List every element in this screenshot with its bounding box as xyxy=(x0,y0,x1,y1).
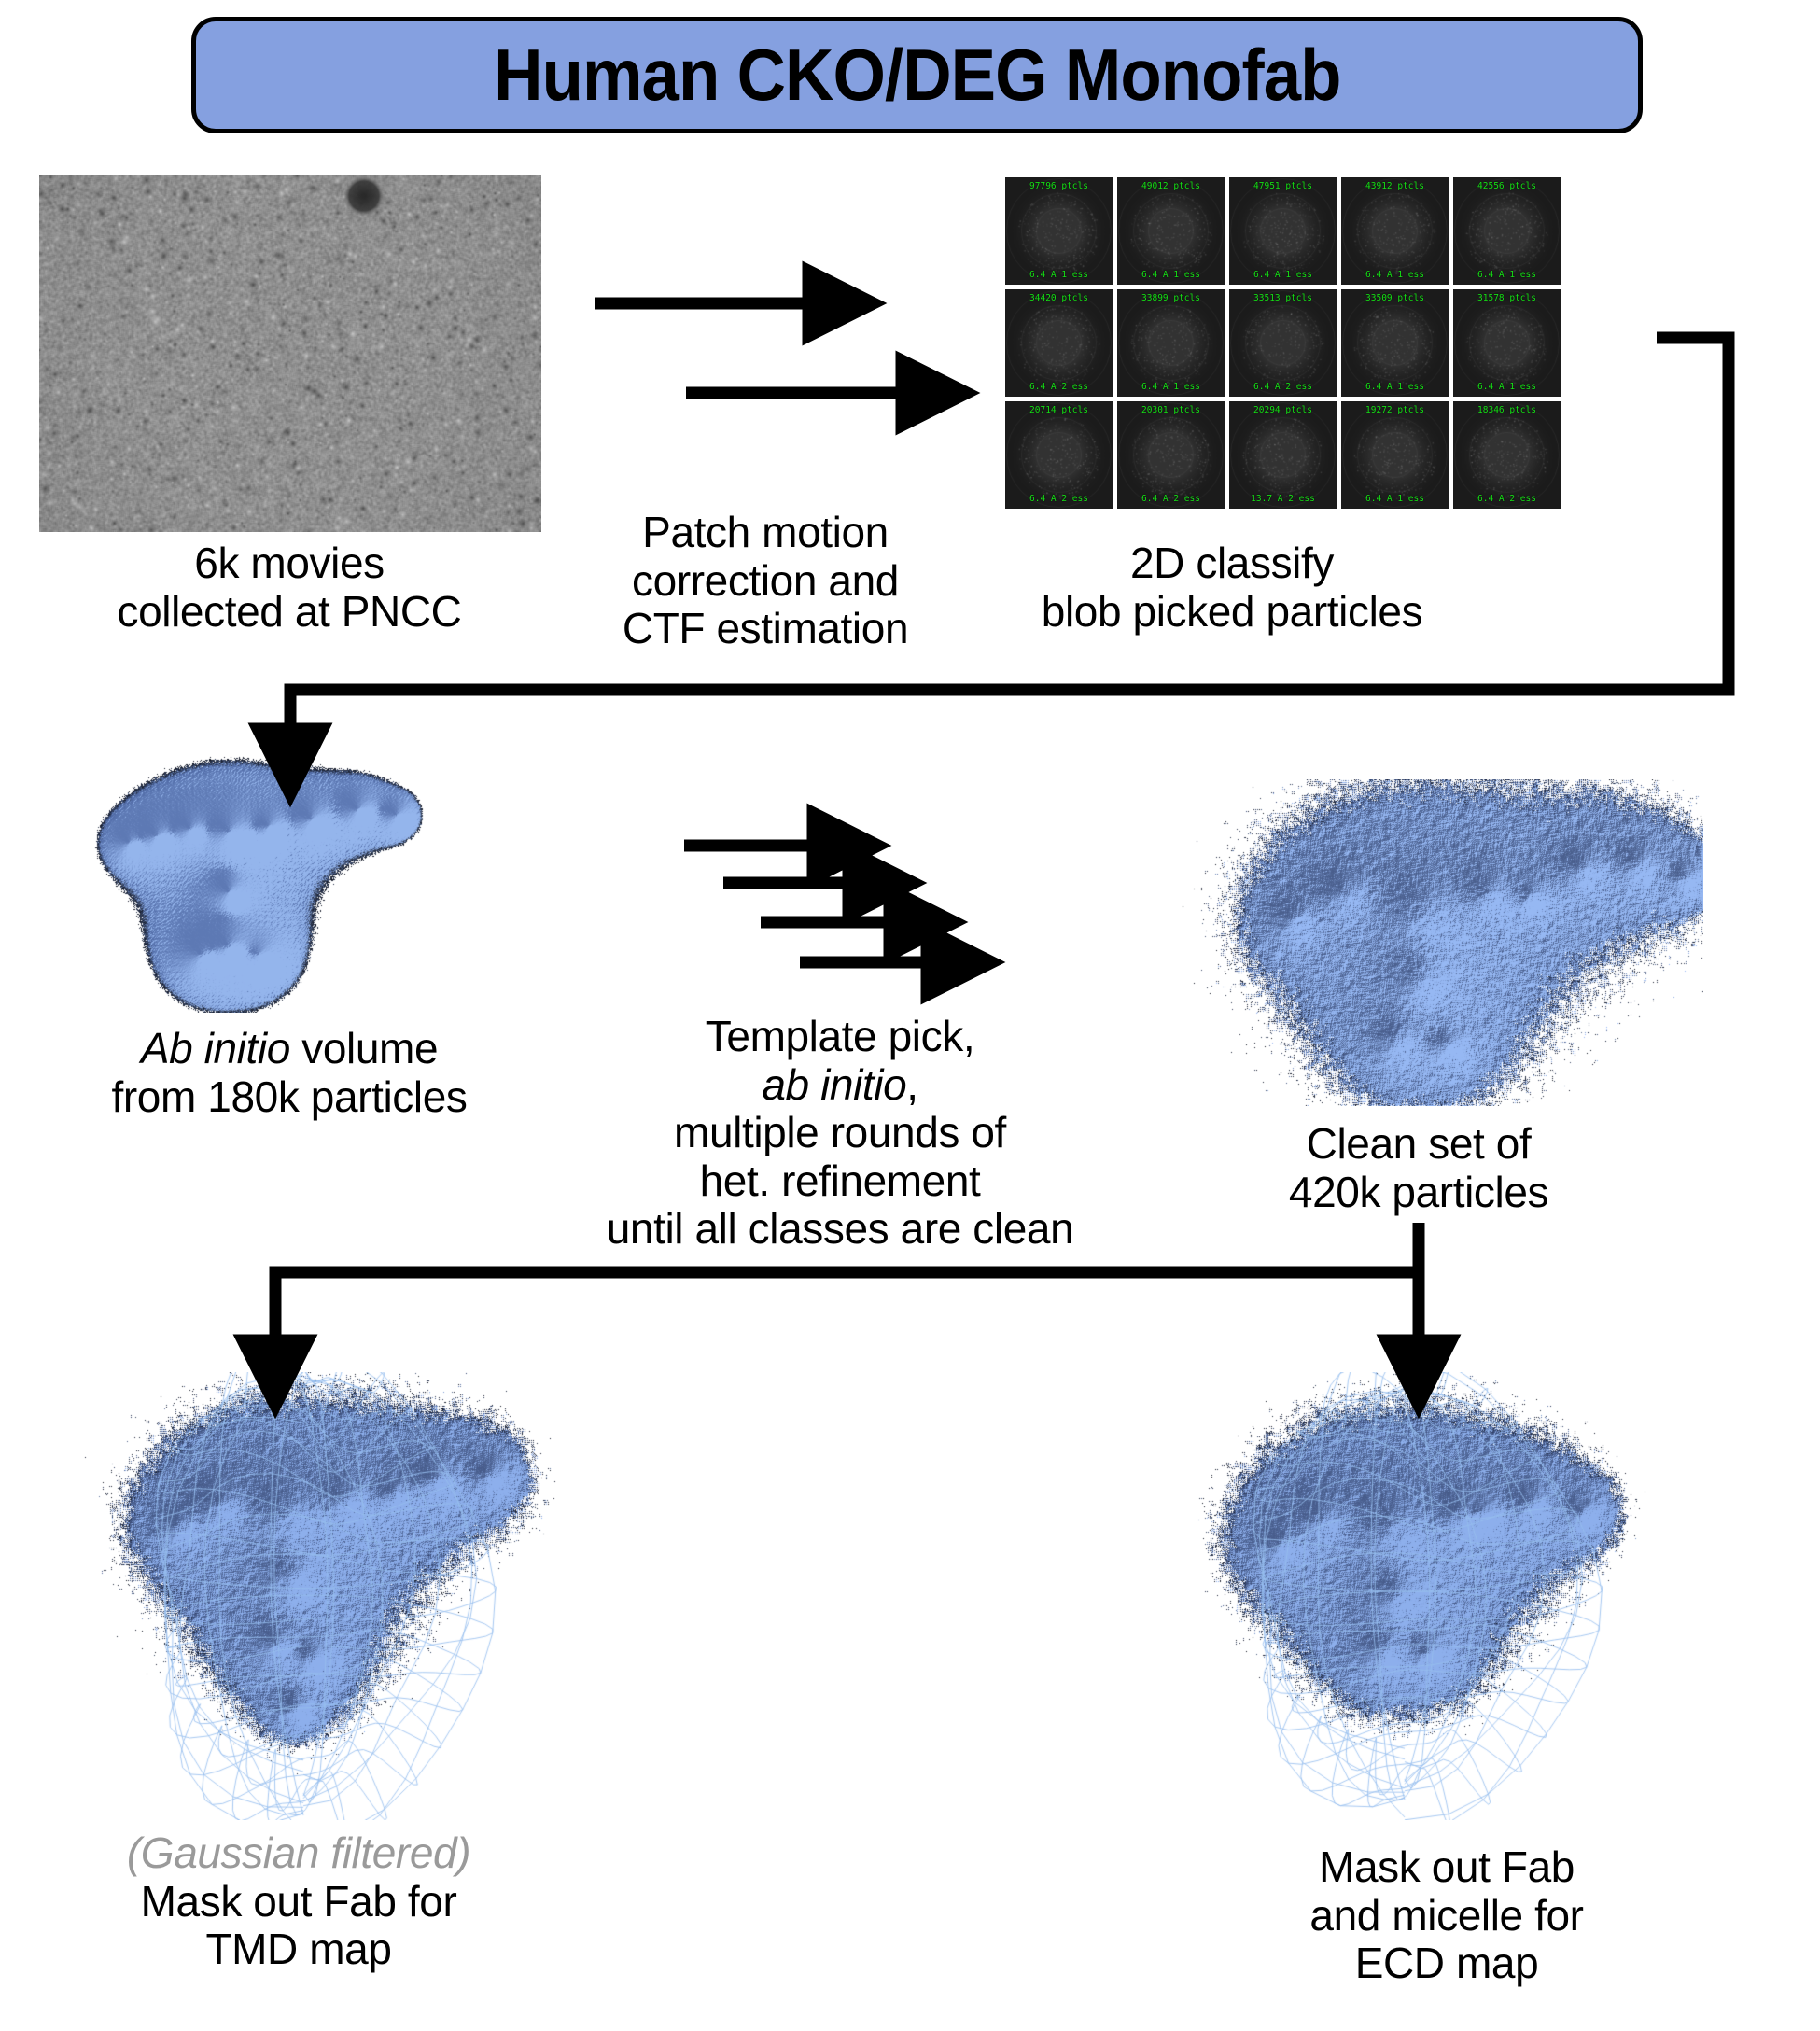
class-average-tile[interactable]: 42556 ptcls6.4 A 1 ess xyxy=(1453,177,1561,285)
class-resolution-label: 6.4 A 2 ess xyxy=(1005,494,1113,504)
class-particle-count: 20301 ptcls xyxy=(1117,405,1225,415)
class-average-tile[interactable]: 43912 ptcls6.4 A 1 ess xyxy=(1341,177,1449,285)
class-resolution-label: 6.4 A 1 ess xyxy=(1117,382,1225,392)
class-resolution-label: 6.4 A 1 ess xyxy=(1341,270,1449,280)
abinitio-volume-render xyxy=(89,742,462,1013)
class-particle-count: 33509 ptcls xyxy=(1341,293,1449,303)
tmd-map-render xyxy=(65,1372,588,1820)
figure-title-box: Human CKO/DEG Monofab xyxy=(191,17,1643,133)
cleanset-caption: Clean set of 420k particles xyxy=(1195,1120,1643,1216)
classify2d-caption: 2D classify blob picked particles xyxy=(971,539,1493,636)
class-particle-count: 18346 ptcls xyxy=(1453,405,1561,415)
class-resolution-label: 6.4 A 1 ess xyxy=(1229,270,1337,280)
micrograph-image xyxy=(39,175,541,532)
class-particle-count: 34420 ptcls xyxy=(1005,293,1113,303)
tmd-caption: (Gaussian filtered) Mask out Fab for TMD… xyxy=(56,1829,541,1974)
class-average-tile[interactable]: 47951 ptcls6.4 A 1 ess xyxy=(1229,177,1337,285)
class-resolution-label: 13.7 A 2 ess xyxy=(1229,494,1337,504)
refine-italic: ab initio xyxy=(762,1060,906,1109)
gaussian-filtered-note: (Gaussian filtered) xyxy=(56,1829,541,1878)
class-particle-count: 33899 ptcls xyxy=(1117,293,1225,303)
class-average-tile[interactable]: 31578 ptcls6.4 A 1 ess xyxy=(1453,289,1561,397)
class-average-tile[interactable]: 19272 ptcls6.4 A 1 ess xyxy=(1341,401,1449,509)
abinitio-caption: Ab initio volume from 180k particles xyxy=(42,1025,537,1121)
class-resolution-label: 6.4 A 1 ess xyxy=(1341,494,1449,504)
class-average-tile[interactable]: 97796 ptcls6.4 A 1 ess xyxy=(1005,177,1113,285)
micrograph-caption: 6k movies collected at PNCC xyxy=(28,539,551,636)
2d-class-average-grid: 97796 ptcls6.4 A 1 ess49012 ptcls6.4 A 1… xyxy=(1005,177,1561,509)
class-particle-count: 33513 ptcls xyxy=(1229,293,1337,303)
ecd-caption: Mask out Fab and micelle for ECD map xyxy=(1213,1843,1680,1988)
refine-comma: , xyxy=(906,1060,917,1109)
class-average-tile[interactable]: 20714 ptcls6.4 A 2 ess xyxy=(1005,401,1113,509)
figure-root: Human CKO/DEG Monofab 6k movies collecte… xyxy=(0,0,1820,2031)
class-particle-count: 31578 ptcls xyxy=(1453,293,1561,303)
abinitio-rest: volume xyxy=(290,1024,438,1072)
clean-map-render xyxy=(1181,779,1703,1106)
class-average-tile[interactable]: 49012 ptcls6.4 A 1 ess xyxy=(1117,177,1225,285)
class-particle-count: 42556 ptcls xyxy=(1453,181,1561,191)
ecd-map-render xyxy=(1157,1372,1680,1820)
class-particle-count: 20714 ptcls xyxy=(1005,405,1113,415)
class-average-tile[interactable]: 34420 ptcls6.4 A 2 ess xyxy=(1005,289,1113,397)
class-resolution-label: 6.4 A 1 ess xyxy=(1005,270,1113,280)
class-particle-count: 19272 ptcls xyxy=(1341,405,1449,415)
class-particle-count: 97796 ptcls xyxy=(1005,181,1113,191)
class-particle-count: 20294 ptcls xyxy=(1229,405,1337,415)
class-resolution-label: 6.4 A 1 ess xyxy=(1117,270,1225,280)
class-average-tile[interactable]: 18346 ptcls6.4 A 2 ess xyxy=(1453,401,1561,509)
class-average-tile[interactable]: 33513 ptcls6.4 A 2 ess xyxy=(1229,289,1337,397)
page-title: Human CKO/DEG Monofab xyxy=(494,33,1340,118)
preprocess-caption: Patch motion correction and CTF estimati… xyxy=(569,509,961,653)
class-average-tile[interactable]: 20294 ptcls13.7 A 2 ess xyxy=(1229,401,1337,509)
class-particle-count: 49012 ptcls xyxy=(1117,181,1225,191)
class-resolution-label: 6.4 A 1 ess xyxy=(1341,382,1449,392)
class-particle-count: 47951 ptcls xyxy=(1229,181,1337,191)
refine-caption: Template pick, ab initio, multiple round… xyxy=(541,1013,1139,1254)
class-particle-count: 43912 ptcls xyxy=(1341,181,1449,191)
class-average-tile[interactable]: 33509 ptcls6.4 A 1 ess xyxy=(1341,289,1449,397)
class-resolution-label: 6.4 A 2 ess xyxy=(1005,382,1113,392)
class-average-tile[interactable]: 20301 ptcls6.4 A 2 ess xyxy=(1117,401,1225,509)
abinitio-italic: Ab initio xyxy=(141,1024,290,1072)
class-average-tile[interactable]: 33899 ptcls6.4 A 1 ess xyxy=(1117,289,1225,397)
class-resolution-label: 6.4 A 1 ess xyxy=(1453,382,1561,392)
class-resolution-label: 6.4 A 1 ess xyxy=(1453,270,1561,280)
class-resolution-label: 6.4 A 2 ess xyxy=(1453,494,1561,504)
class-resolution-label: 6.4 A 2 ess xyxy=(1229,382,1337,392)
class-resolution-label: 6.4 A 2 ess xyxy=(1117,494,1225,504)
